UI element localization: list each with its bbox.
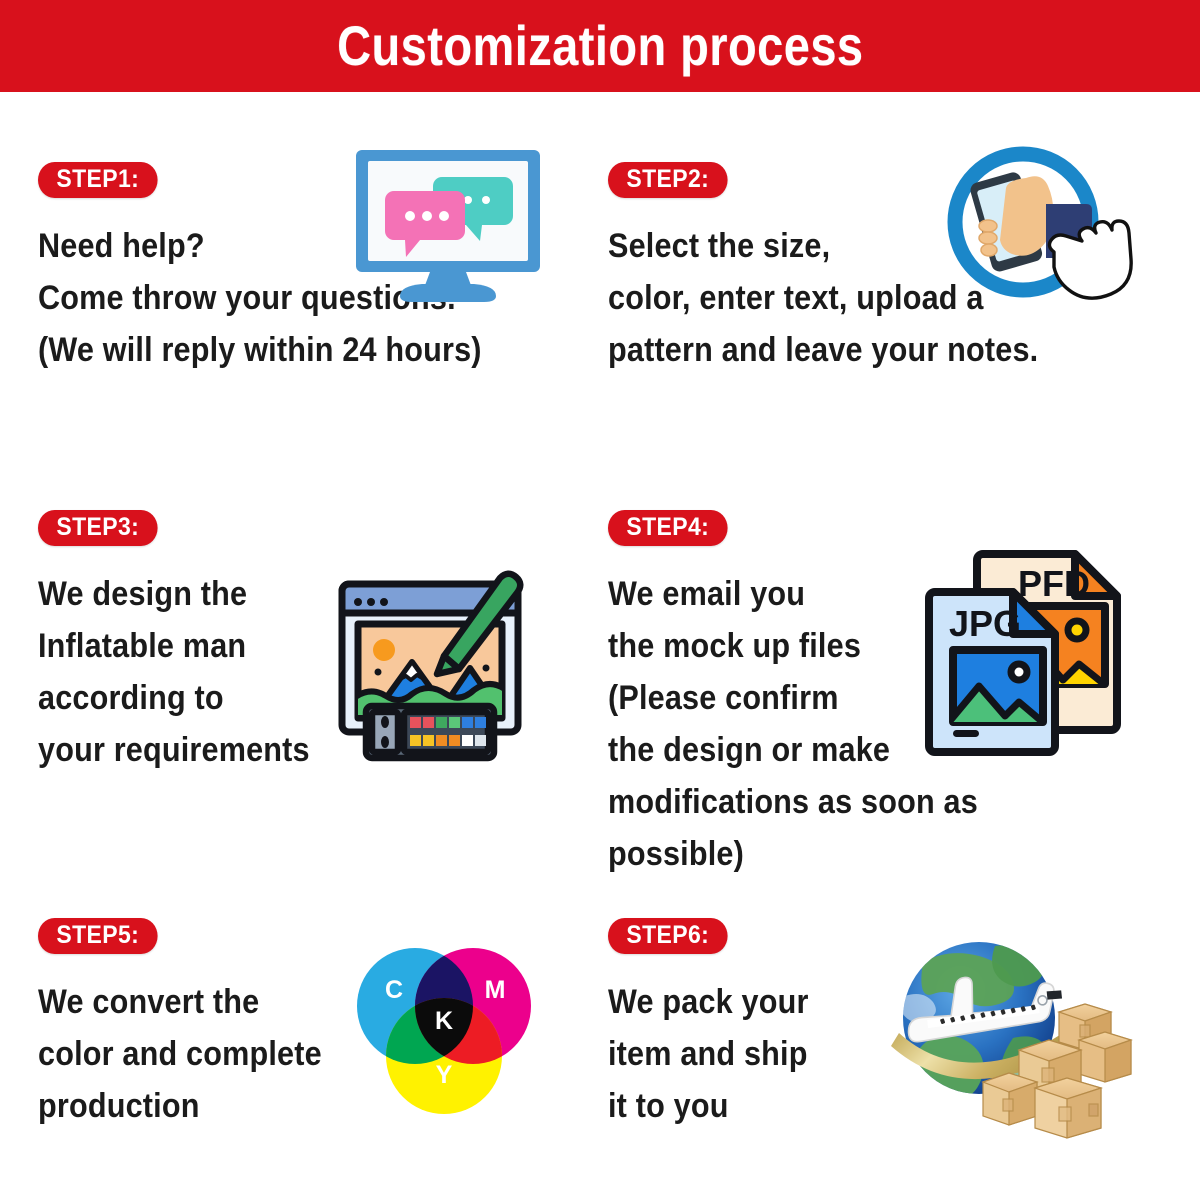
- step-4-badge: STEP4:: [608, 510, 728, 546]
- step-6-text: We pack your item and ship it to you: [608, 976, 1121, 1132]
- steps-grid: STEP1: Need help? Come throw your questi…: [0, 92, 1200, 1200]
- step-4: STEP4: We email you the mock up files (P…: [608, 510, 1178, 910]
- step-3-text: We design the Inflatable man according t…: [38, 568, 542, 776]
- infographic-page: Customization process STEP1: Need help? …: [0, 0, 1200, 1200]
- step-1-text: Need help? Come throw your questions. (W…: [38, 220, 542, 376]
- step-5-badge: STEP5:: [38, 918, 158, 954]
- step-3-badge: STEP3:: [38, 510, 158, 546]
- step-5: STEP5: We convert the color and complete…: [38, 918, 598, 1198]
- page-title: Customization process: [337, 18, 863, 74]
- step-6: STEP6: We pack your item and ship it to …: [608, 918, 1178, 1198]
- header-banner: Customization process: [0, 0, 1200, 92]
- step-1-badge: STEP1:: [38, 162, 158, 198]
- step-2-text: Select the size, color, enter text, uplo…: [608, 220, 1121, 376]
- step-3: STEP3: We design the Inflatable man acco…: [38, 510, 598, 910]
- step-4-text: We email you the mock up files (Please c…: [608, 568, 1121, 880]
- step-2-badge: STEP2:: [608, 162, 728, 198]
- step-6-badge: STEP6:: [608, 918, 728, 954]
- step-2: STEP2: Select the size, color, enter tex…: [608, 162, 1178, 502]
- step-5-text: We convert the color and complete produc…: [38, 976, 542, 1132]
- step-1: STEP1: Need help? Come throw your questi…: [38, 162, 598, 502]
